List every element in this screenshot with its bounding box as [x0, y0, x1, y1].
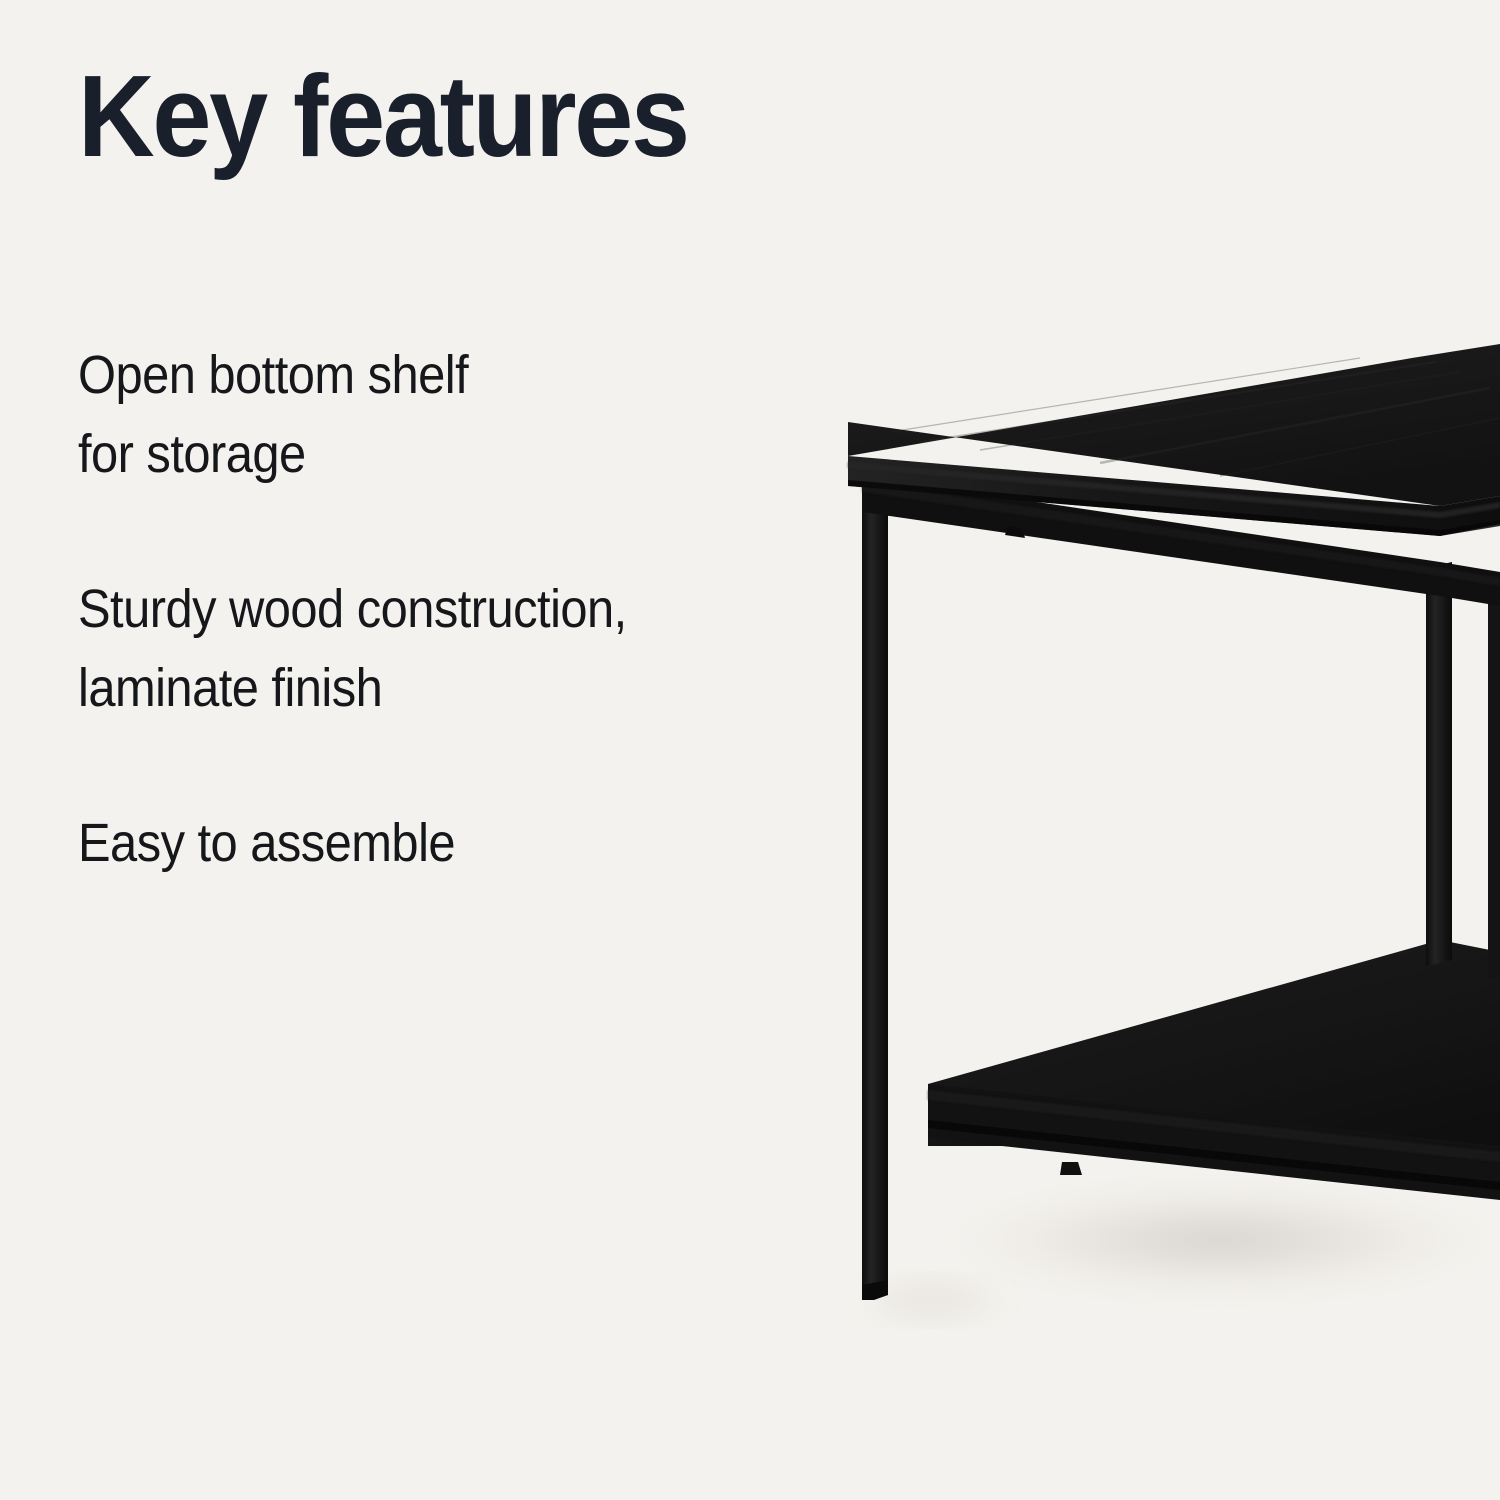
product-feature-page: Key features Open bottom shelf for stora…: [0, 0, 1500, 1500]
rear-right-leg: [1426, 562, 1452, 966]
feature-item-open-bottom-shelf: Open bottom shelf for storage: [78, 336, 793, 494]
product-photo-coffee-table: [800, 300, 1500, 1400]
coffee-table-illustration: [800, 300, 1500, 1400]
floor-shadow-icon: [874, 1182, 1500, 1313]
features-text-column: Key features Open bottom shelf for stora…: [78, 0, 858, 1500]
front-left-leg: [862, 476, 888, 1300]
lower-shelf: [928, 940, 1500, 1200]
far-right-leg: [1488, 598, 1500, 978]
page-title: Key features: [78, 58, 688, 174]
feature-item-easy-to-assemble: Easy to assemble: [78, 804, 793, 883]
feature-item-sturdy-wood-construction: Sturdy wood construction, laminate finis…: [78, 570, 793, 728]
key-features-list: Open bottom shelf for storage Sturdy woo…: [78, 336, 868, 883]
